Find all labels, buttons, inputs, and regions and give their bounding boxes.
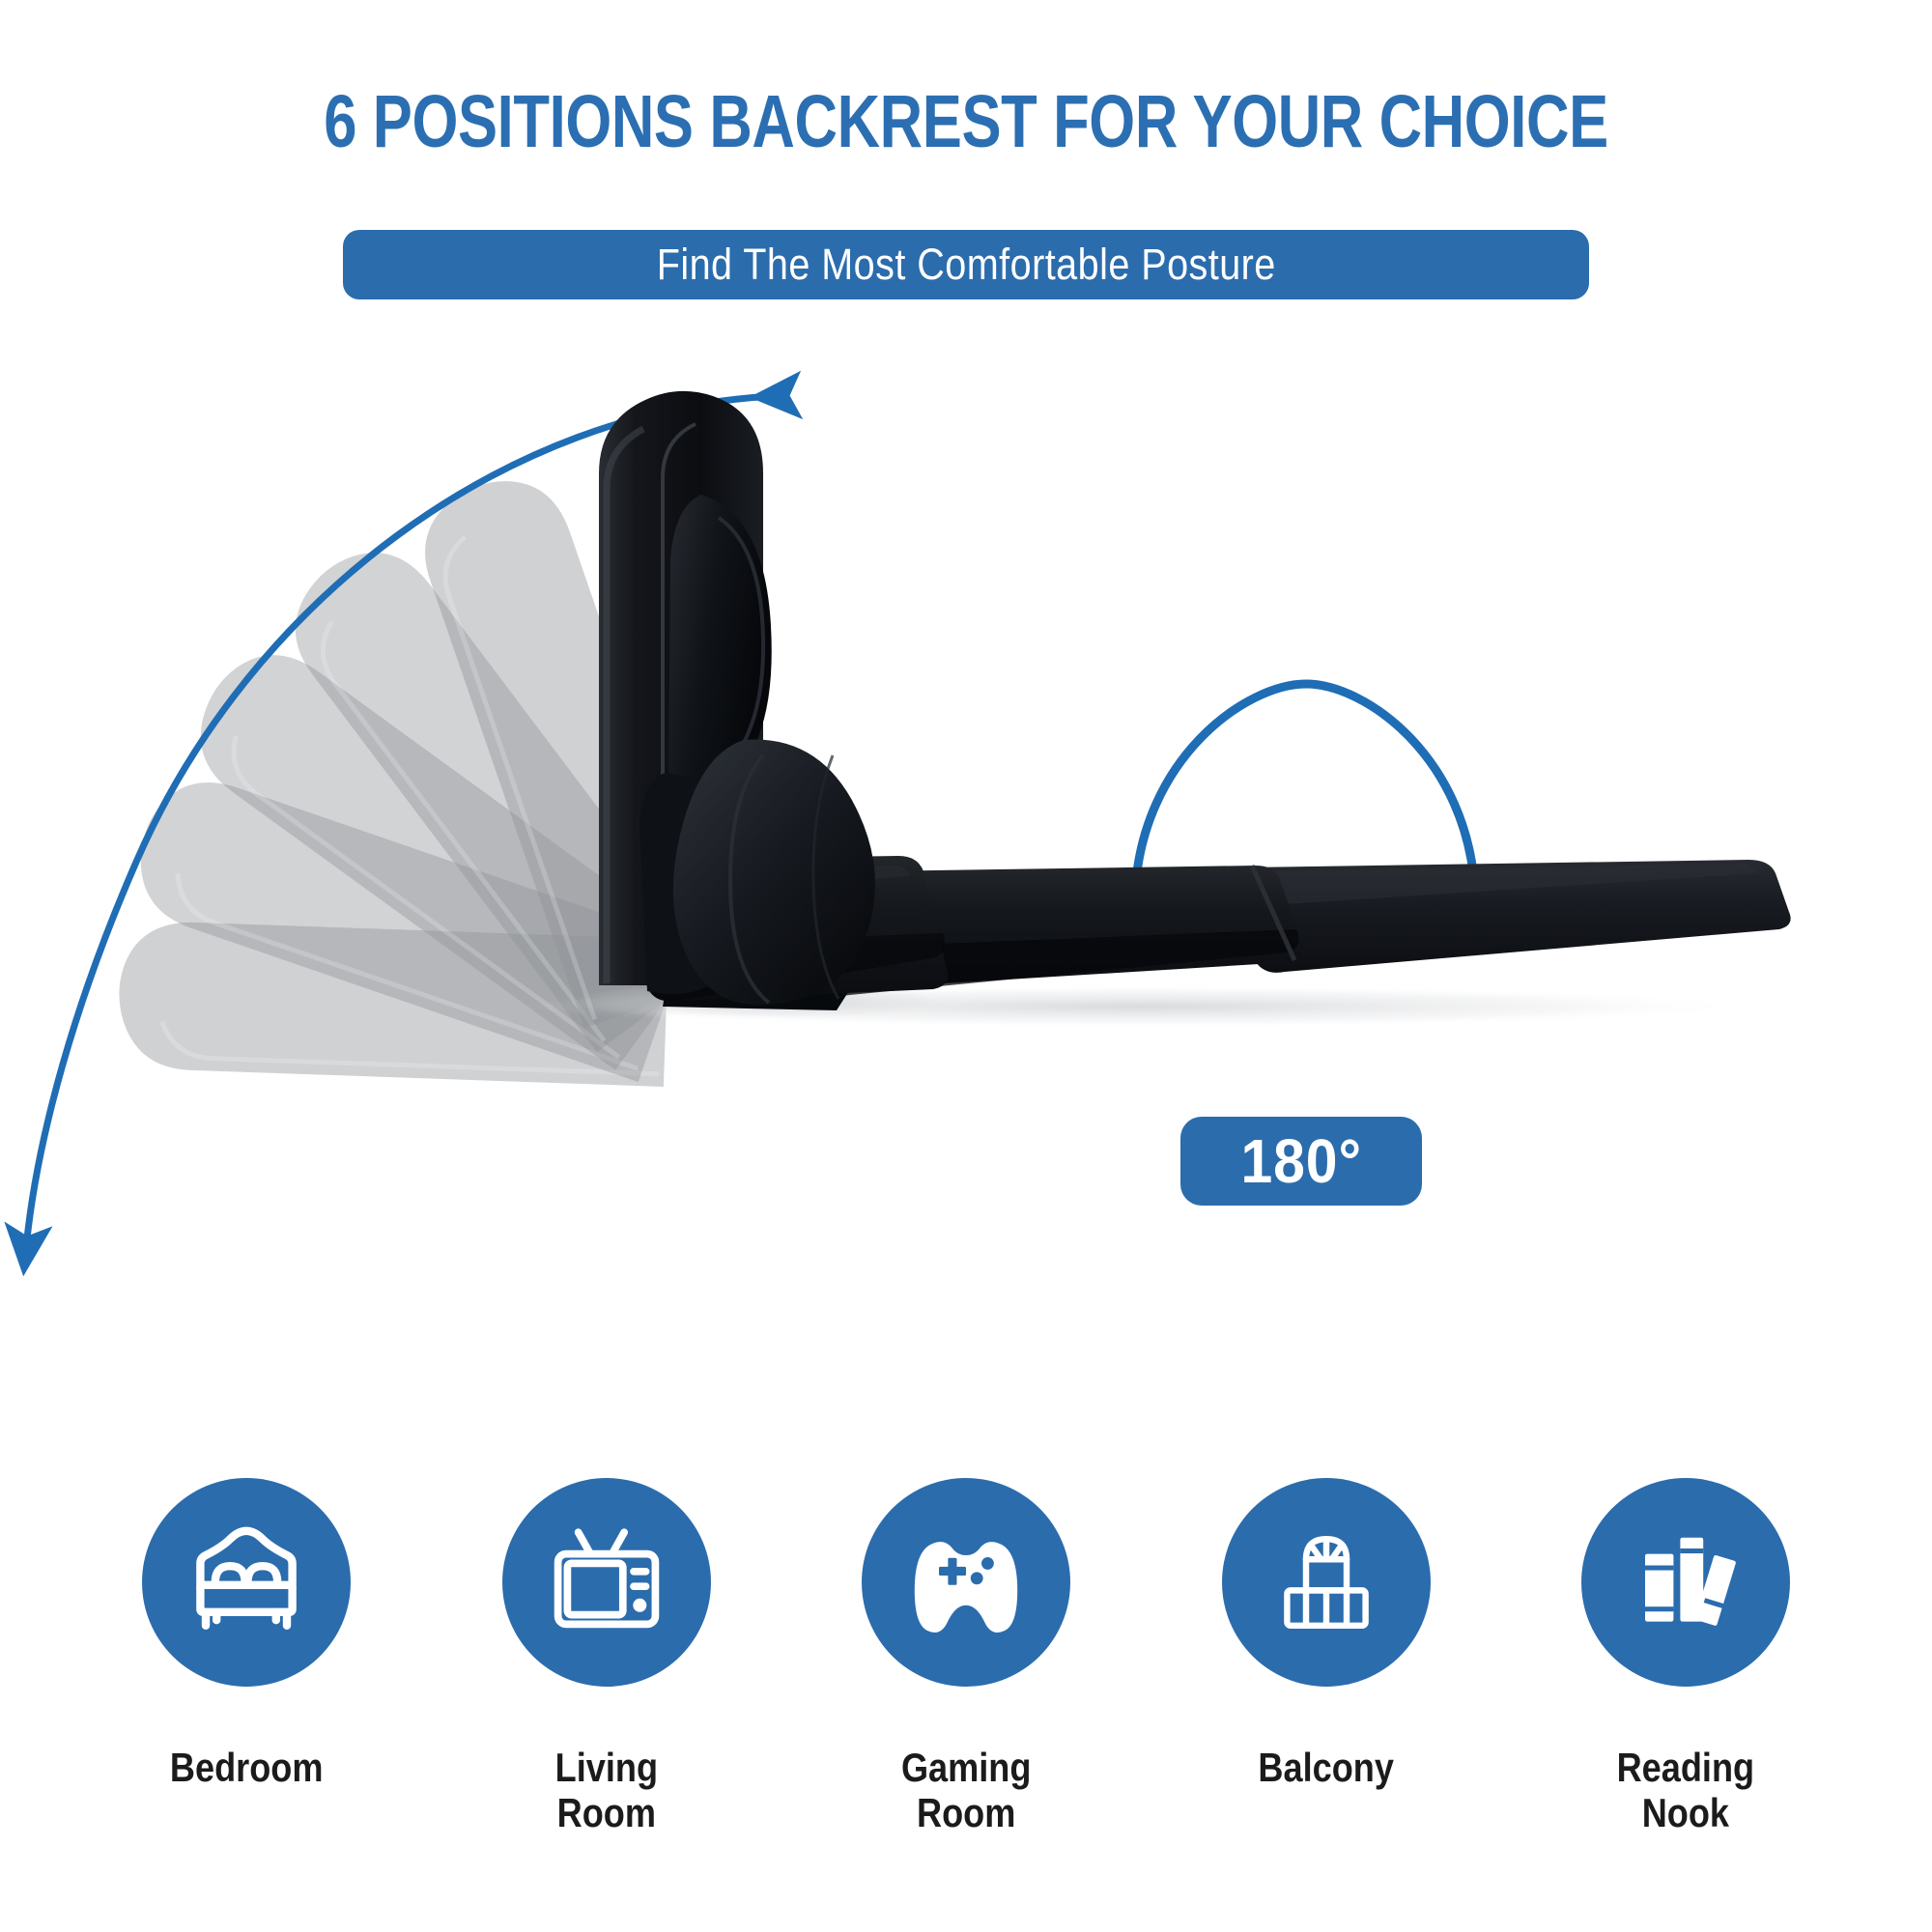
angle-badge-label: 180° — [1240, 1130, 1361, 1192]
subtitle-text: Find The Most Comfortable Posture — [656, 240, 1275, 290]
usecase-living-room[interactable]: Living Room — [496, 1478, 718, 1932]
subtitle-banner: Find The Most Comfortable Posture — [343, 230, 1589, 299]
usecase-label: Gaming Room — [901, 1745, 1031, 1835]
product-hero-stage: 180° — [0, 319, 1932, 1410]
usecase-row: Bedroom Living Room — [0, 1478, 1932, 1932]
subtitle-banner-wrap: Find The Most Comfortable Posture — [0, 230, 1932, 299]
bed-icon — [179, 1515, 314, 1650]
usecase-icon-circle — [862, 1478, 1070, 1687]
tv-icon — [539, 1515, 674, 1650]
angle-badge: 180° — [1180, 1117, 1422, 1206]
usecase-label: Balcony — [1258, 1745, 1394, 1790]
usecase-reading-nook[interactable]: Reading Nook — [1575, 1478, 1797, 1932]
usecase-label: Living Room — [554, 1745, 657, 1835]
usecase-gaming-room[interactable]: Gaming Room — [855, 1478, 1077, 1932]
gamepad-icon — [898, 1515, 1034, 1650]
usecase-icon-circle — [502, 1478, 711, 1687]
usecase-label: Bedroom — [170, 1745, 324, 1790]
balcony-icon — [1259, 1515, 1394, 1650]
books-icon — [1618, 1515, 1753, 1650]
product-lumbar-pillow — [673, 740, 875, 1006]
usecase-balcony[interactable]: Balcony — [1215, 1478, 1437, 1932]
usecase-icon-circle — [142, 1478, 351, 1687]
usecase-label: Reading Nook — [1617, 1745, 1754, 1835]
usecase-bedroom[interactable]: Bedroom — [135, 1478, 357, 1932]
flat-180-arc — [1135, 684, 1475, 894]
usecase-icon-circle — [1581, 1478, 1790, 1687]
infographic-page: 6 POSITIONS BACKREST FOR YOUR CHOICE Fin… — [0, 0, 1932, 1932]
usecase-icon-circle — [1222, 1478, 1431, 1687]
page-title: 6 POSITIONS BACKREST FOR YOUR CHOICE — [193, 85, 1739, 159]
